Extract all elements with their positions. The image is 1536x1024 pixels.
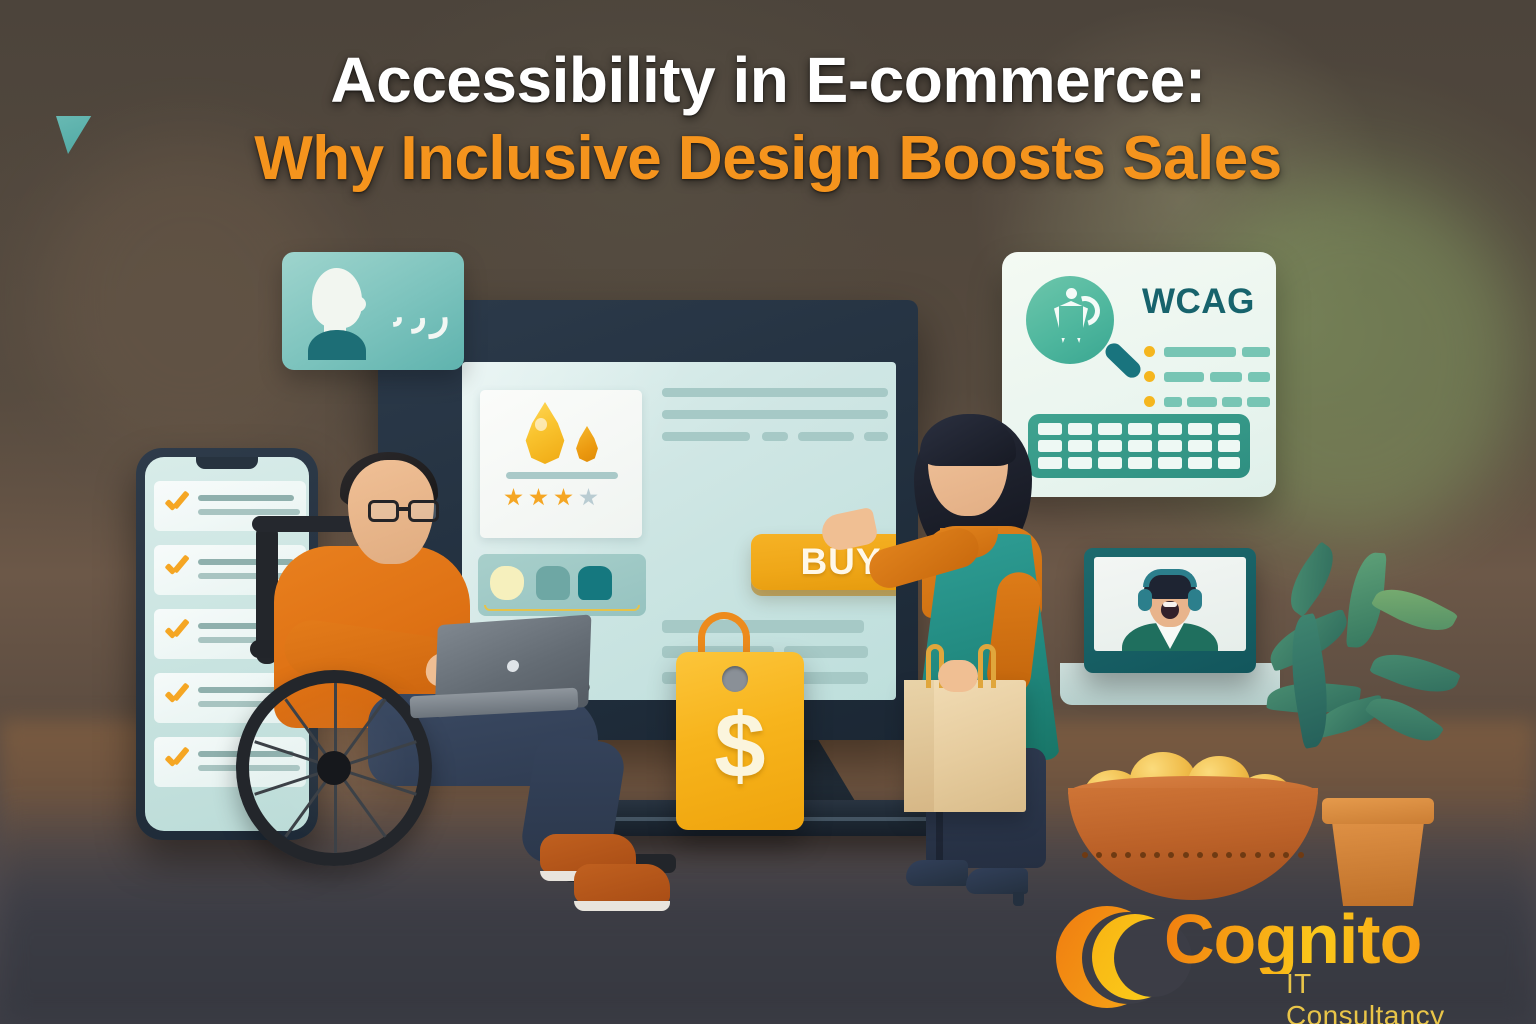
dollar-sign-icon: $	[676, 700, 804, 792]
checkmark-icon	[164, 685, 190, 707]
poster-canvas: Accessibility in E-commerce: Why Inclusi…	[0, 0, 1536, 1024]
checkmark-icon	[164, 621, 190, 643]
wheelchair-wheel	[236, 670, 432, 866]
video-feed	[1094, 557, 1246, 651]
wheelchair-user	[228, 438, 648, 928]
title-line-1: Accessibility in E-commerce:	[0, 48, 1536, 112]
poster-title: Accessibility in E-commerce: Why Inclusi…	[0, 48, 1536, 190]
price-tag: $	[672, 612, 808, 840]
wcag-heading: WCAG	[1142, 282, 1255, 322]
text-line-3b	[762, 432, 788, 441]
company-logo: Cognito IT Consultancy	[1056, 898, 1456, 1012]
text-line-3c	[798, 432, 854, 441]
sound-wave-icon-3	[382, 276, 458, 350]
text-line-3a	[662, 432, 750, 441]
screen-reader-speech-bubble	[282, 252, 464, 370]
headset-icon	[1143, 569, 1197, 587]
checkmark-icon	[164, 557, 190, 579]
title-line-2: Why Inclusive Design Boosts Sales	[0, 128, 1536, 190]
person-shoe-right	[574, 864, 670, 904]
text-line-1	[662, 388, 888, 397]
woman-shopper	[880, 408, 1110, 928]
checkmark-icon	[164, 749, 190, 771]
logo-tagline: IT Consultancy	[1286, 968, 1456, 1024]
price-tag-hole	[722, 666, 748, 692]
magnifier-lens-icon	[1026, 276, 1114, 364]
laptop-logo-icon	[507, 660, 519, 673]
logo-brand-name: Cognito	[1164, 904, 1421, 974]
plant-pot	[1328, 798, 1428, 906]
checkmark-icon	[164, 493, 190, 515]
bowl-pattern	[1082, 852, 1304, 860]
text-line-2	[662, 410, 888, 419]
wheel-hub	[317, 751, 351, 785]
price-tag-body: $	[676, 652, 804, 830]
bullet-dot-icon	[1144, 371, 1155, 382]
bag-handle-right	[978, 644, 996, 688]
shopper-shoe-right	[966, 868, 1028, 894]
eyeglasses-icon	[368, 500, 444, 522]
bullet-dot-icon	[1144, 346, 1155, 357]
bullet-dot-icon	[1144, 396, 1155, 407]
shopper-hand-holding-bag	[938, 660, 978, 692]
magnifier-handle-icon	[1102, 340, 1144, 381]
speaking-head-icon	[308, 268, 368, 356]
shopping-bag	[904, 680, 1026, 812]
support-agent-icon	[1139, 571, 1201, 629]
shopper-shoe-left	[906, 860, 968, 886]
